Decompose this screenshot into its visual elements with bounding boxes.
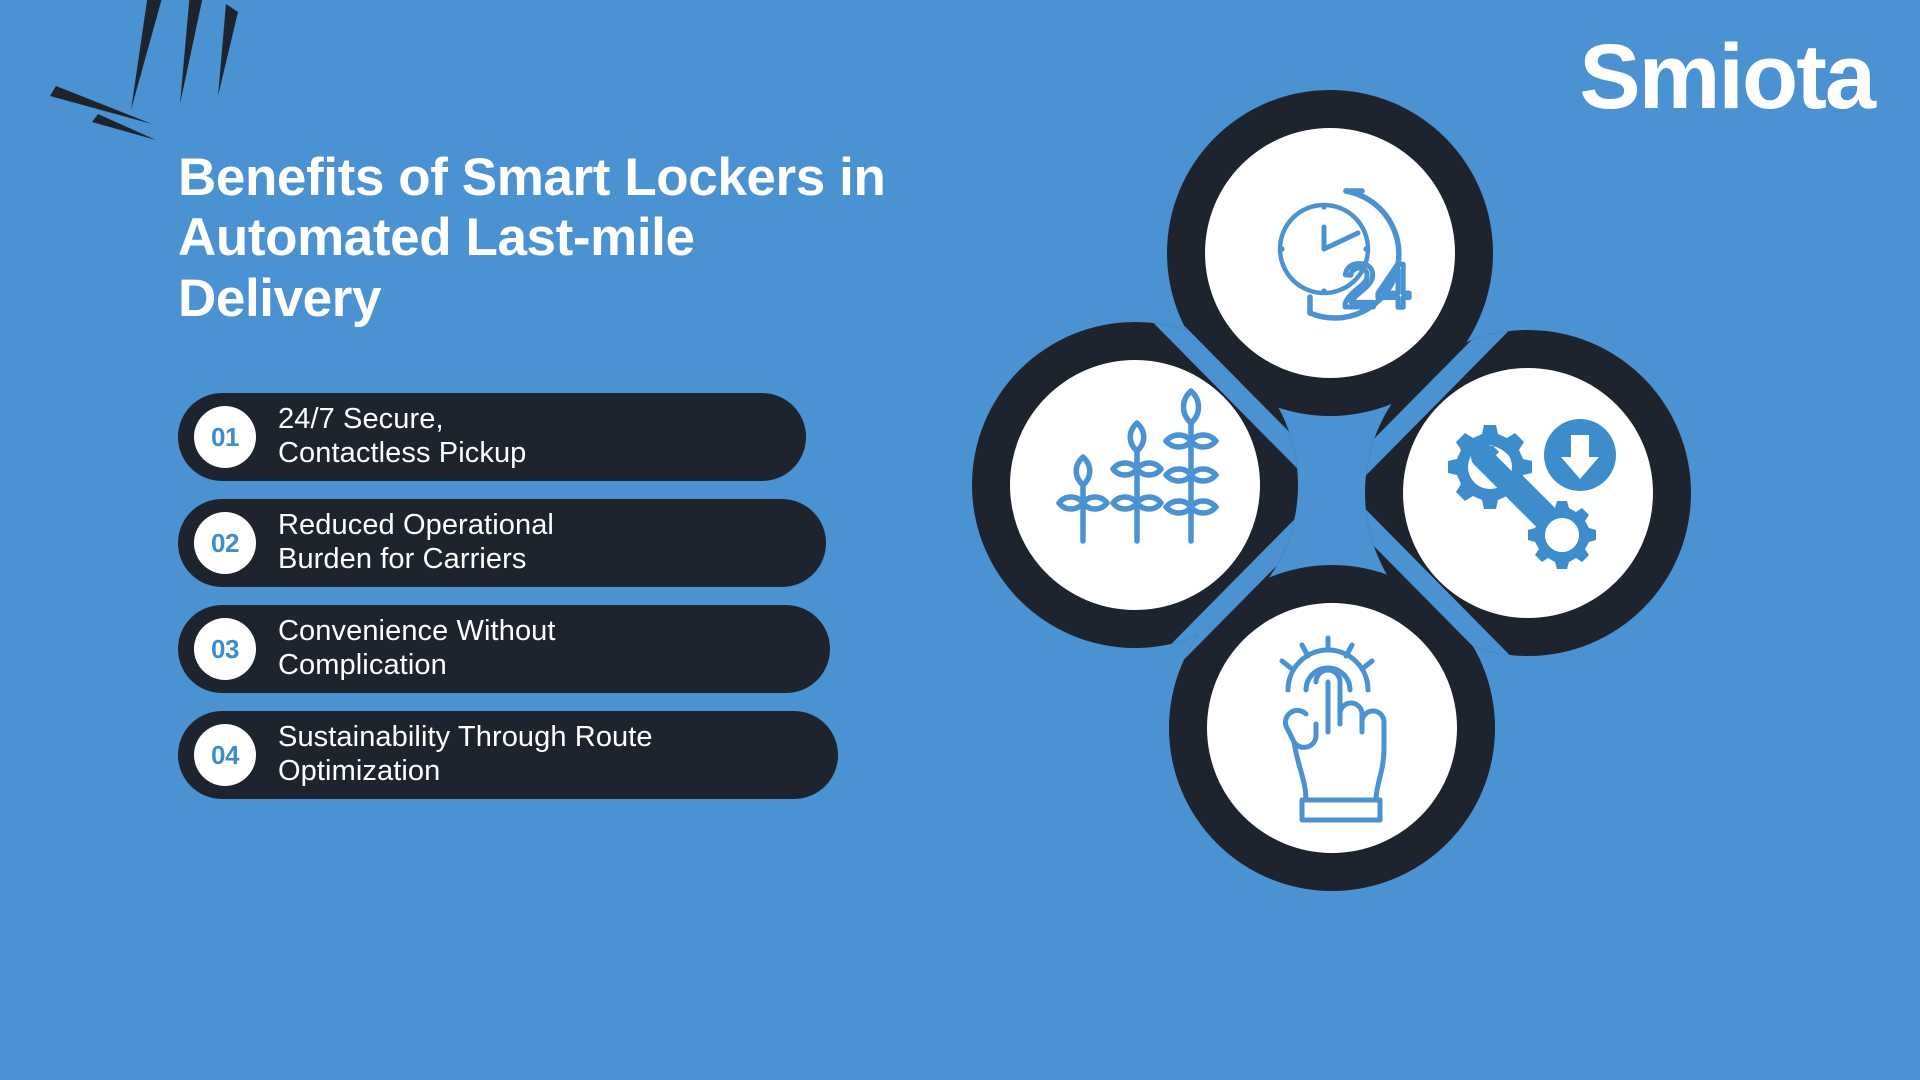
benefit-label: 24/7 Secure, Contactless Pickup bbox=[278, 403, 526, 471]
benefit-label: Convenience Without Complication bbox=[278, 615, 556, 683]
icon-cluster: 24 bbox=[880, 85, 1780, 895]
infographic-slide: Smiota Benefits of Smart Lockers in Auto… bbox=[0, 0, 1920, 1080]
list-item[interactable]: 02 Reduced Operational Burden for Carrie… bbox=[178, 499, 826, 587]
page-title-line-3: Delivery bbox=[178, 269, 978, 329]
cluster-white-circles bbox=[1010, 128, 1653, 853]
page-title: Benefits of Smart Lockers in Automated L… bbox=[178, 148, 978, 329]
benefit-number-badge: 03 bbox=[194, 618, 256, 680]
benefit-number-badge: 04 bbox=[194, 724, 256, 786]
benefit-number-badge: 01 bbox=[194, 406, 256, 468]
clock-24-label: 24 bbox=[1342, 252, 1411, 321]
benefit-number-badge: 02 bbox=[194, 512, 256, 574]
benefit-label: Reduced Operational Burden for Carriers bbox=[278, 509, 554, 577]
list-item[interactable]: 04 Sustainability Through Route Optimiza… bbox=[178, 711, 838, 799]
list-item[interactable]: 03 Convenience Without Complication bbox=[178, 605, 830, 693]
list-item[interactable]: 01 24/7 Secure, Contactless Pickup bbox=[178, 393, 806, 481]
page-title-line-1: Benefits of Smart Lockers in bbox=[178, 148, 978, 208]
page-title-line-2: Automated Last-mile bbox=[178, 208, 978, 268]
benefit-label: Sustainability Through Route Optimizatio… bbox=[278, 721, 653, 789]
